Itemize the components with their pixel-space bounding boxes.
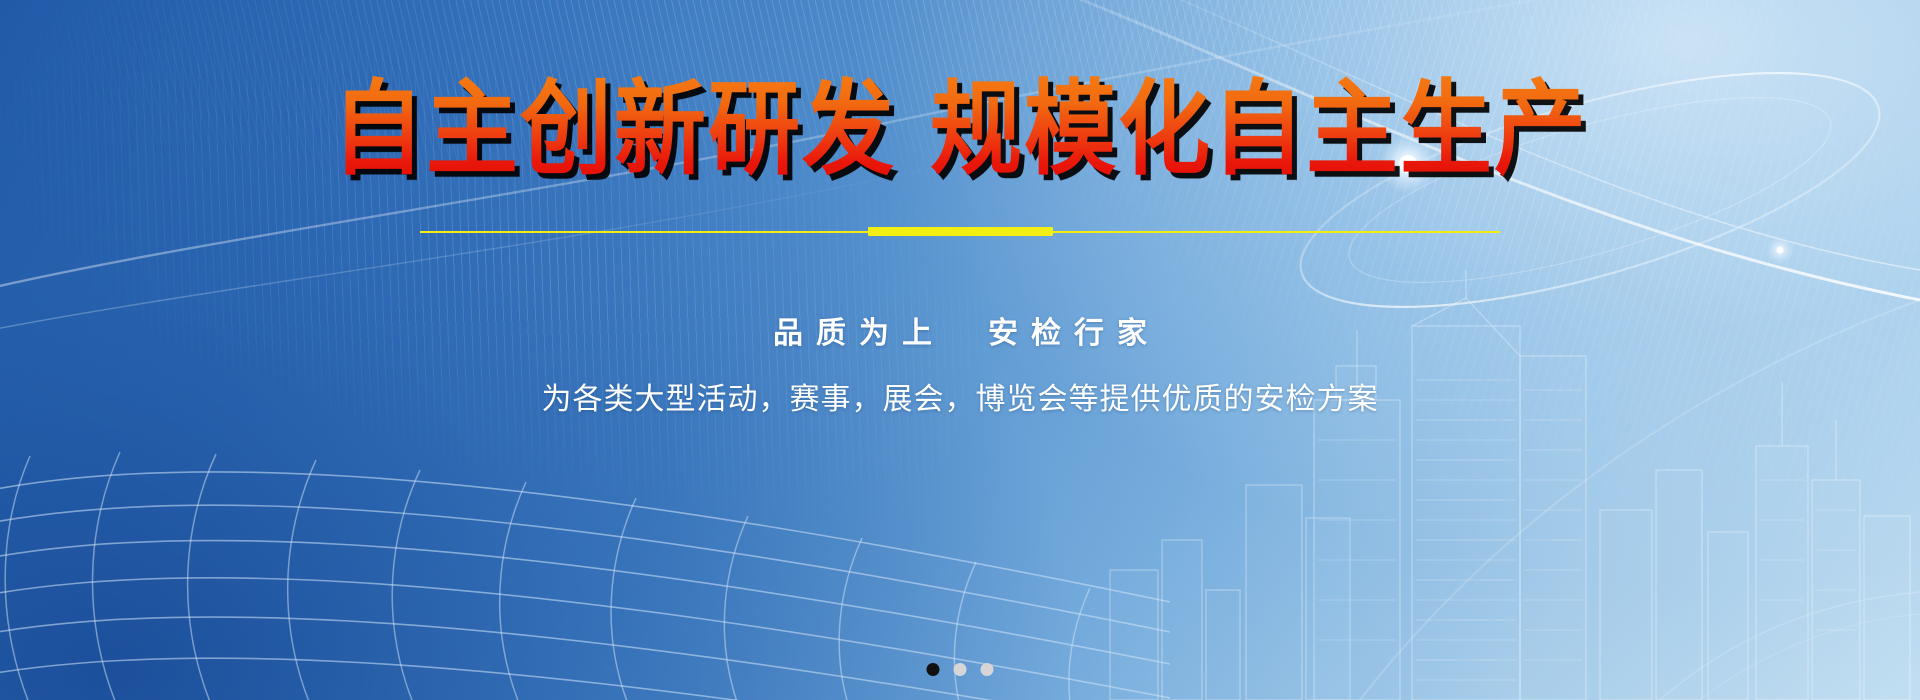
banner-subtitle-secondary: 为各类大型活动，赛事，展会，博览会等提供优质的安检方案 <box>542 374 1379 418</box>
carousel-dots <box>927 663 994 676</box>
headline-divider <box>420 227 1500 236</box>
hero-banner-slide: 自主创新研发 规模化自主生产 品质为上 安检行家 为各类大型活动，赛事，展会，博… <box>0 0 1920 700</box>
banner-headline: 自主创新研发 规模化自主生产 <box>332 74 1588 185</box>
carousel-dot-1[interactable] <box>927 663 940 676</box>
carousel-dot-3[interactable] <box>981 663 994 676</box>
banner-content: 自主创新研发 规模化自主生产 品质为上 安检行家 为各类大型活动，赛事，展会，博… <box>0 0 1920 700</box>
carousel-dot-2[interactable] <box>954 663 967 676</box>
banner-subtitle-primary: 品质为上 安检行家 <box>760 308 1160 352</box>
divider-center-bar <box>868 227 1053 236</box>
